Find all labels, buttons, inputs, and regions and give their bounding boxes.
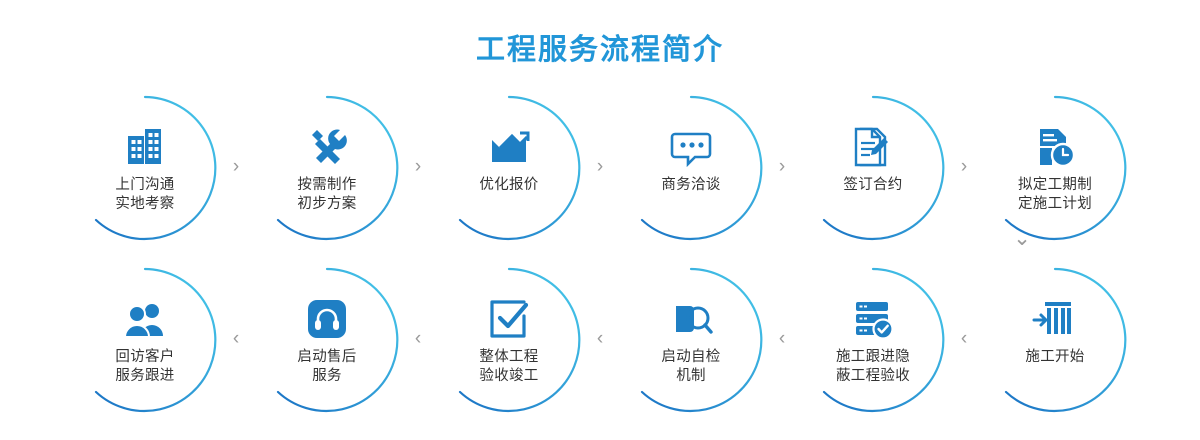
flow-node-label: 整体工程 验收竣工 [479, 348, 538, 386]
flow-node-step-3[interactable]: 优化报价 [435, 94, 583, 242]
chevron-left-icon: ‹ [779, 329, 785, 348]
chevron-right-icon: › [597, 157, 603, 176]
arrow-right-3: › [583, 94, 617, 242]
customers-icon [122, 296, 168, 342]
chart-down-icon [486, 124, 532, 170]
arrow-right-1: › [219, 94, 253, 242]
arrow-left-5: ‹ [947, 266, 981, 414]
arrow-left-2: ‹ [401, 266, 435, 414]
server-check-icon [850, 296, 896, 342]
flow-diagram: 工程服务流程简介 [0, 0, 1200, 440]
chevron-right-icon: › [779, 157, 785, 176]
flow-node-step-6[interactable]: 拟定工期制 定施工计划 [981, 94, 1129, 242]
inspection-icon [668, 296, 714, 342]
construction-start-icon [1032, 296, 1078, 342]
arrow-right-2: › [401, 94, 435, 242]
page-title: 工程服务流程简介 [0, 26, 1200, 68]
flow-node-label: 上门沟通 实地考察 [115, 176, 174, 214]
arrow-left-3: ‹ [583, 266, 617, 414]
flow-node-step-11[interactable]: 启动售后 服务 [253, 266, 401, 414]
chevron-right-icon: › [233, 157, 239, 176]
flow-node-step-5[interactable]: 签订合约 [799, 94, 947, 242]
chevron-left-icon: ‹ [597, 329, 603, 348]
flow-node-step-8[interactable]: 施工跟进隐 蔽工程验收 [799, 266, 947, 414]
schedule-clock-icon [1032, 124, 1078, 170]
arrow-left-4: ‹ [765, 266, 799, 414]
flow-node-step-12[interactable]: 回访客户 服务跟进 [71, 266, 219, 414]
contract-pen-icon [850, 124, 896, 170]
flow-node-label: 启动售后 服务 [297, 348, 356, 386]
flow-node-step-1[interactable]: 上门沟通 实地考察 [71, 94, 219, 242]
chevron-left-icon: ‹ [415, 329, 421, 348]
headset-icon [304, 296, 350, 342]
flow-node-label: 商务洽谈 [661, 176, 720, 195]
arrow-right-5: › [947, 94, 981, 242]
flow-node-label: 拟定工期制 定施工计划 [1018, 176, 1092, 214]
arrow-left-1: ‹ [219, 266, 253, 414]
flow-node-label: 施工跟进隐 蔽工程验收 [836, 348, 910, 386]
flow-node-label: 签订合约 [843, 176, 902, 195]
building-icon [122, 124, 168, 170]
chevron-right-icon: › [961, 157, 967, 176]
flow-node-step-2[interactable]: 按需制作 初步方案 [253, 94, 401, 242]
flow-node-step-7[interactable]: 施工开始 [981, 266, 1129, 414]
chevron-right-icon: › [415, 157, 421, 176]
chevron-left-icon: ‹ [233, 329, 239, 348]
flow-node-label: 启动自检 机制 [661, 348, 720, 386]
flow-node-label: 按需制作 初步方案 [297, 176, 356, 214]
tools-icon [304, 124, 350, 170]
flow-node-step-9[interactable]: 启动自检 机制 [617, 266, 765, 414]
flow-node-label: 回访客户 服务跟进 [115, 348, 174, 386]
chat-bubble-icon [668, 124, 714, 170]
flow-node-step-10[interactable]: 整体工程 验收竣工 [435, 266, 583, 414]
flow-row-bottom: 回访客户 服务跟进 ‹ 启动售后 服务 ‹ [0, 250, 1200, 430]
arrow-right-4: › [765, 94, 799, 242]
flow-node-label: 优化报价 [479, 176, 538, 195]
chevron-left-icon: ‹ [961, 329, 967, 348]
flow-row-top: 上门沟通 实地考察 › 按需制作 初步方案 › [0, 78, 1200, 258]
flow-node-label: 施工开始 [1025, 348, 1084, 367]
flow-node-step-4[interactable]: 商务洽谈 [617, 94, 765, 242]
checkbox-icon [486, 296, 532, 342]
